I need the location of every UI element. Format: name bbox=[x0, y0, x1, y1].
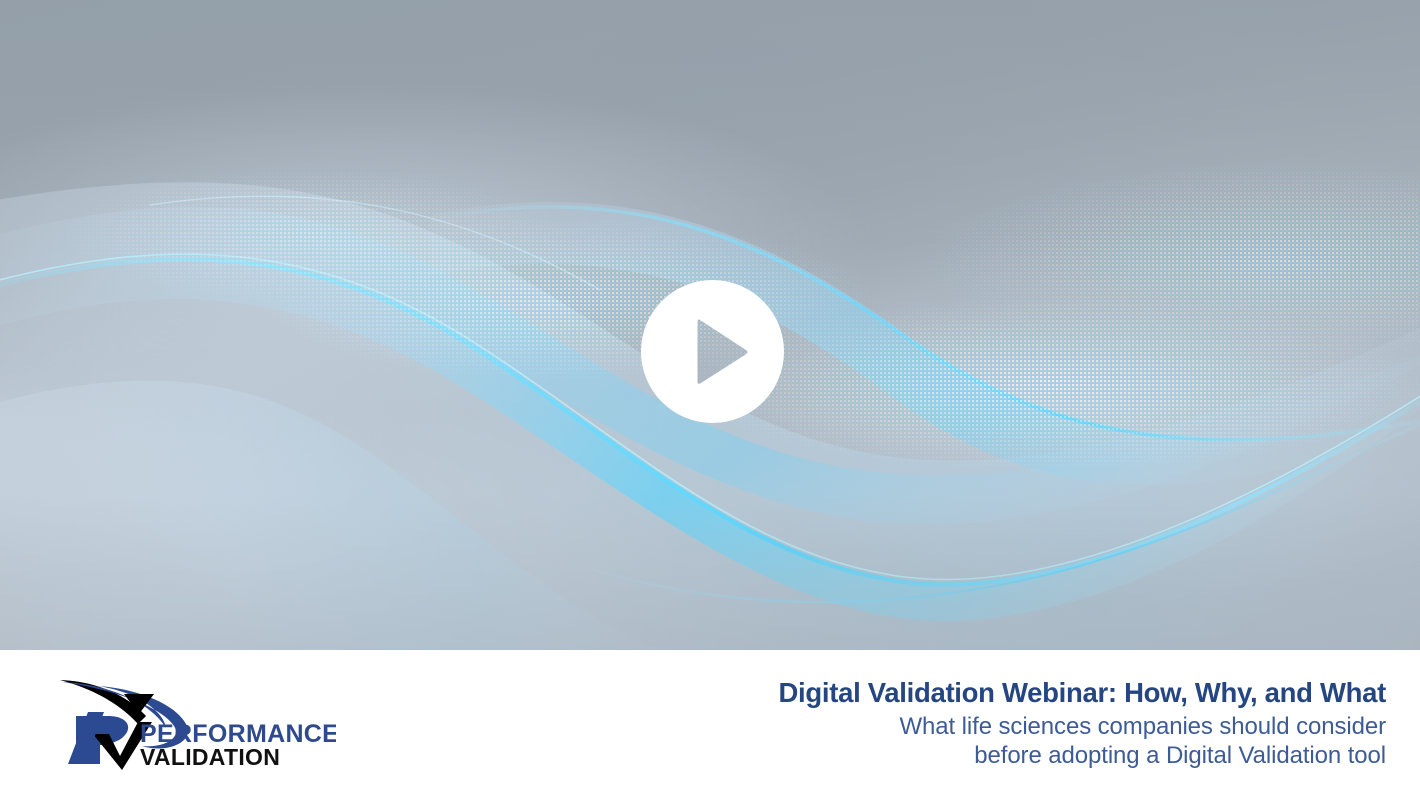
video-subtitle: What life sciences companies should cons… bbox=[626, 712, 1386, 770]
video-subtitle-line-1: What life sciences companies should cons… bbox=[626, 712, 1386, 741]
video-player[interactable] bbox=[0, 0, 1420, 650]
video-card-page: PERFORMANCE VALIDATION Digital Validatio… bbox=[0, 0, 1420, 800]
play-icon bbox=[641, 280, 784, 423]
video-subtitle-line-2: before adopting a Digital Validation too… bbox=[626, 741, 1386, 770]
play-button[interactable] bbox=[641, 280, 784, 423]
video-footer: PERFORMANCE VALIDATION Digital Validatio… bbox=[0, 650, 1420, 800]
video-title-block: Digital Validation Webinar: How, Why, an… bbox=[626, 676, 1386, 770]
video-title: Digital Validation Webinar: How, Why, an… bbox=[626, 676, 1386, 709]
logo-secondary-text: VALIDATION bbox=[140, 744, 280, 770]
performance-validation-logo[interactable]: PERFORMANCE VALIDATION bbox=[46, 672, 336, 772]
